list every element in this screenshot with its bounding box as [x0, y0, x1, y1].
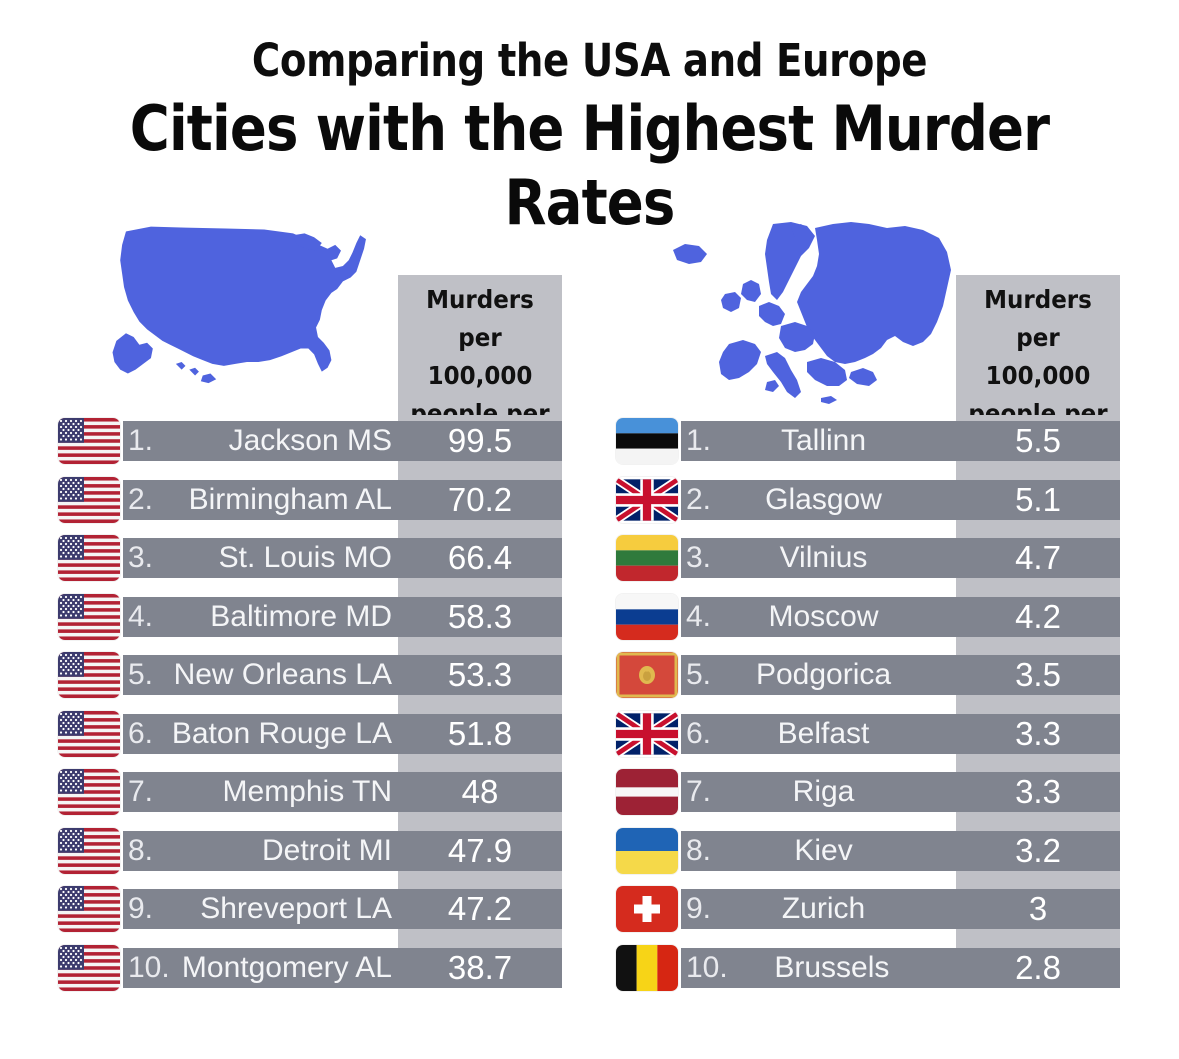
table-row[interactable]: 10.Brussels2.8	[590, 942, 1179, 1001]
row-label-bar: 8.Kiev	[681, 831, 956, 871]
rank-number: 10.	[681, 953, 728, 983]
table-row[interactable]: 2.Glasgow5.1	[590, 474, 1179, 533]
murder-rate-value: 3.5	[956, 655, 1120, 695]
usa-map-icon	[100, 218, 390, 410]
city-name: Moscow	[711, 602, 956, 632]
us-flag-icon	[58, 886, 120, 932]
rank-number: 8.	[681, 836, 711, 866]
murder-rate-value: 66.4	[398, 538, 562, 578]
infographic-root: Comparing the USA and Europe Cities with…	[0, 0, 1179, 1059]
murder-rate-value: 70.2	[398, 480, 562, 520]
table-row[interactable]: 9.Zurich3	[590, 883, 1179, 942]
montenegro-flag-icon	[616, 652, 678, 698]
murder-rate-value: 2.8	[956, 948, 1120, 988]
row-label-bar: 8.Detroit MI	[123, 831, 398, 871]
table-row[interactable]: 6.Belfast3.3	[590, 708, 1179, 767]
row-label-bar: 2.Glasgow	[681, 480, 956, 520]
city-name: St. Louis MO	[153, 543, 398, 573]
belgium-flag-icon	[616, 945, 678, 991]
table-row[interactable]: 5.Podgorica3.5	[590, 649, 1179, 708]
us-flag-icon	[58, 828, 120, 874]
uk-flag-icon	[616, 477, 678, 523]
header-line-2: 100,000	[405, 357, 556, 395]
rank-number: 3.	[123, 543, 153, 573]
us-flag-icon	[58, 418, 120, 464]
table-row[interactable]: 1.Jackson MS99.5	[0, 415, 590, 474]
rank-number: 6.	[681, 719, 711, 749]
city-name: Jackson MS	[153, 426, 398, 456]
table-row[interactable]: 6.Baton Rouge LA51.8	[0, 708, 590, 767]
header-line-2: 100,000	[963, 357, 1114, 395]
murder-rate-value: 47.2	[398, 889, 562, 929]
title-block: Comparing the USA and Europe Cities with…	[0, 34, 1179, 240]
murder-rate-value: 38.7	[398, 948, 562, 988]
rank-number: 5.	[123, 660, 153, 690]
city-name: Vilnius	[711, 543, 956, 573]
rank-number: 3.	[681, 543, 711, 573]
us-flag-icon	[58, 945, 120, 991]
estonia-flag-icon	[616, 418, 678, 464]
row-label-bar: 2.Birmingham AL	[123, 480, 398, 520]
rank-number: 6.	[123, 719, 153, 749]
city-name: Shreveport LA	[153, 894, 398, 924]
us-flag-icon	[58, 711, 120, 757]
row-label-bar: 1.Tallinn	[681, 421, 956, 461]
city-name: New Orleans LA	[153, 660, 398, 690]
row-label-bar: 9.Shreveport LA	[123, 889, 398, 929]
row-label-bar: 5.New Orleans LA	[123, 655, 398, 695]
murder-rate-value: 99.5	[398, 421, 562, 461]
city-name: Baton Rouge LA	[153, 719, 398, 749]
table-row[interactable]: 5.New Orleans LA53.3	[0, 649, 590, 708]
table-row[interactable]: 8.Detroit MI47.9	[0, 825, 590, 884]
us-flag-icon	[58, 535, 120, 581]
rank-number: 7.	[681, 777, 711, 807]
ukraine-flag-icon	[616, 828, 678, 874]
switzerland-flag-icon	[616, 886, 678, 932]
murder-rate-value: 3.3	[956, 714, 1120, 754]
europe-map-icon	[655, 222, 955, 412]
murder-rate-value: 58.3	[398, 597, 562, 637]
city-name: Zurich	[711, 894, 956, 924]
latvia-flag-icon	[616, 769, 678, 815]
row-label-bar: 4.Baltimore MD	[123, 597, 398, 637]
rank-number: 9.	[123, 894, 153, 924]
murder-rate-value: 5.1	[956, 480, 1120, 520]
us-flag-icon	[58, 594, 120, 640]
row-label-bar: 3.Vilnius	[681, 538, 956, 578]
city-name: Belfast	[711, 719, 956, 749]
subtitle: Comparing the USA and Europe	[83, 34, 1097, 88]
europe-value-column-header: Murders per 100,000 people per year	[956, 275, 1120, 419]
table-row[interactable]: 8.Kiev3.2	[590, 825, 1179, 884]
usa-value-column-header: Murders per 100,000 people per year	[398, 275, 562, 419]
table-row[interactable]: 1.Tallinn5.5	[590, 415, 1179, 474]
murder-rate-value: 3.2	[956, 831, 1120, 871]
murder-rate-value: 53.3	[398, 655, 562, 695]
city-name: Riga	[711, 777, 956, 807]
row-label-bar: 7.Riga	[681, 772, 956, 812]
table-row[interactable]: 7.Riga3.3	[590, 766, 1179, 825]
rank-number: 8.	[123, 836, 153, 866]
table-row[interactable]: 2.Birmingham AL70.2	[0, 474, 590, 533]
row-label-bar: 6.Belfast	[681, 714, 956, 754]
row-label-bar: 10.Montgomery AL	[123, 948, 398, 988]
row-label-bar: 9.Zurich	[681, 889, 956, 929]
rank-number: 1.	[681, 426, 711, 456]
rank-number: 2.	[123, 485, 153, 515]
city-name: Kiev	[711, 836, 956, 866]
city-name: Birmingham AL	[153, 485, 398, 515]
header-line-1: Murders per	[405, 281, 556, 357]
city-name: Memphis TN	[153, 777, 398, 807]
table-row[interactable]: 7.Memphis TN48	[0, 766, 590, 825]
rank-number: 4.	[681, 602, 711, 632]
city-name: Baltimore MD	[153, 602, 398, 632]
table-row[interactable]: 3.St. Louis MO66.4	[0, 532, 590, 591]
header-line-1: Murders per	[963, 281, 1114, 357]
rank-number: 5.	[681, 660, 711, 690]
us-flag-icon	[58, 652, 120, 698]
row-label-bar: 10.Brussels	[681, 948, 956, 988]
table-row[interactable]: 3.Vilnius4.7	[590, 532, 1179, 591]
table-row[interactable]: 4.Moscow4.2	[590, 591, 1179, 650]
rank-number: 4.	[123, 602, 153, 632]
city-name: Podgorica	[711, 660, 956, 690]
murder-rate-value: 51.8	[398, 714, 562, 754]
row-label-bar: 4.Moscow	[681, 597, 956, 637]
rank-number: 1.	[123, 426, 153, 456]
rank-number: 9.	[681, 894, 711, 924]
murder-rate-value: 47.9	[398, 831, 562, 871]
row-label-bar: 7.Memphis TN	[123, 772, 398, 812]
city-name: Tallinn	[711, 426, 956, 456]
murder-rate-value: 3	[956, 889, 1120, 929]
russia-flag-icon	[616, 594, 678, 640]
table-row[interactable]: 4.Baltimore MD58.3	[0, 591, 590, 650]
rank-number: 7.	[123, 777, 153, 807]
us-flag-icon	[58, 477, 120, 523]
lithuania-flag-icon	[616, 535, 678, 581]
row-label-bar: 3.St. Louis MO	[123, 538, 398, 578]
table-row[interactable]: 10.Montgomery AL38.7	[0, 942, 590, 1001]
city-name: Detroit MI	[153, 836, 398, 866]
rank-number: 2.	[681, 485, 711, 515]
murder-rate-value: 48	[398, 772, 562, 812]
row-label-bar: 6.Baton Rouge LA	[123, 714, 398, 754]
murder-rate-value: 4.7	[956, 538, 1120, 578]
city-name: Brussels	[728, 953, 956, 983]
table-row[interactable]: 9.Shreveport LA47.2	[0, 883, 590, 942]
murder-rate-value: 4.2	[956, 597, 1120, 637]
us-flag-icon	[58, 769, 120, 815]
row-label-bar: 5.Podgorica	[681, 655, 956, 695]
uk-flag-icon	[616, 711, 678, 757]
murder-rate-value: 3.3	[956, 772, 1120, 812]
city-name: Glasgow	[711, 485, 956, 515]
rank-number: 10.	[123, 953, 170, 983]
murder-rate-value: 5.5	[956, 421, 1120, 461]
city-name: Montgomery AL	[170, 953, 398, 983]
row-label-bar: 1.Jackson MS	[123, 421, 398, 461]
